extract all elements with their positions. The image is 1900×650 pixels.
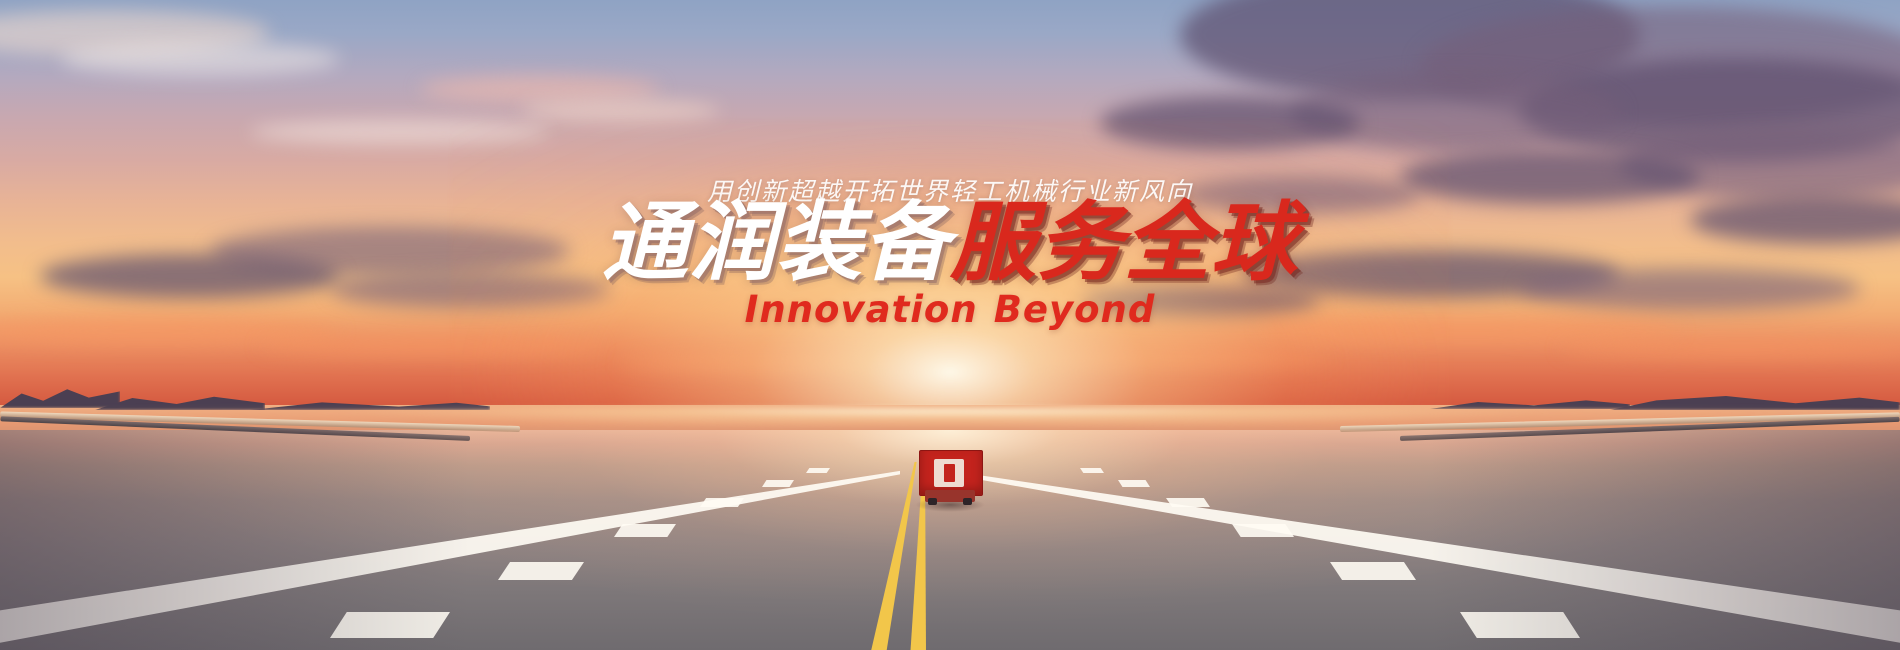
lane-dash-left — [700, 498, 744, 507]
lane-dash-right — [1330, 562, 1416, 580]
road-vignette-left — [0, 430, 470, 650]
lane-dash-left — [762, 480, 794, 487]
truck-wheel — [928, 498, 937, 505]
hero-banner: 用创新超越开拓世界轻工机械行业新风向 通润装备服务全球 InnovationBe… — [0, 0, 1900, 650]
lane-dash-right — [1166, 498, 1210, 507]
road-vignette-right — [1430, 430, 1900, 650]
truck-wheel — [963, 498, 972, 505]
delivery-truck — [915, 450, 985, 512]
lane-dash-left — [614, 524, 676, 537]
lane-dash-right — [1080, 468, 1104, 473]
lane-dash-left — [498, 562, 584, 580]
lane-dash-right — [1232, 524, 1294, 537]
lane-dash-left — [806, 468, 830, 473]
lane-dash-right — [1118, 480, 1150, 487]
